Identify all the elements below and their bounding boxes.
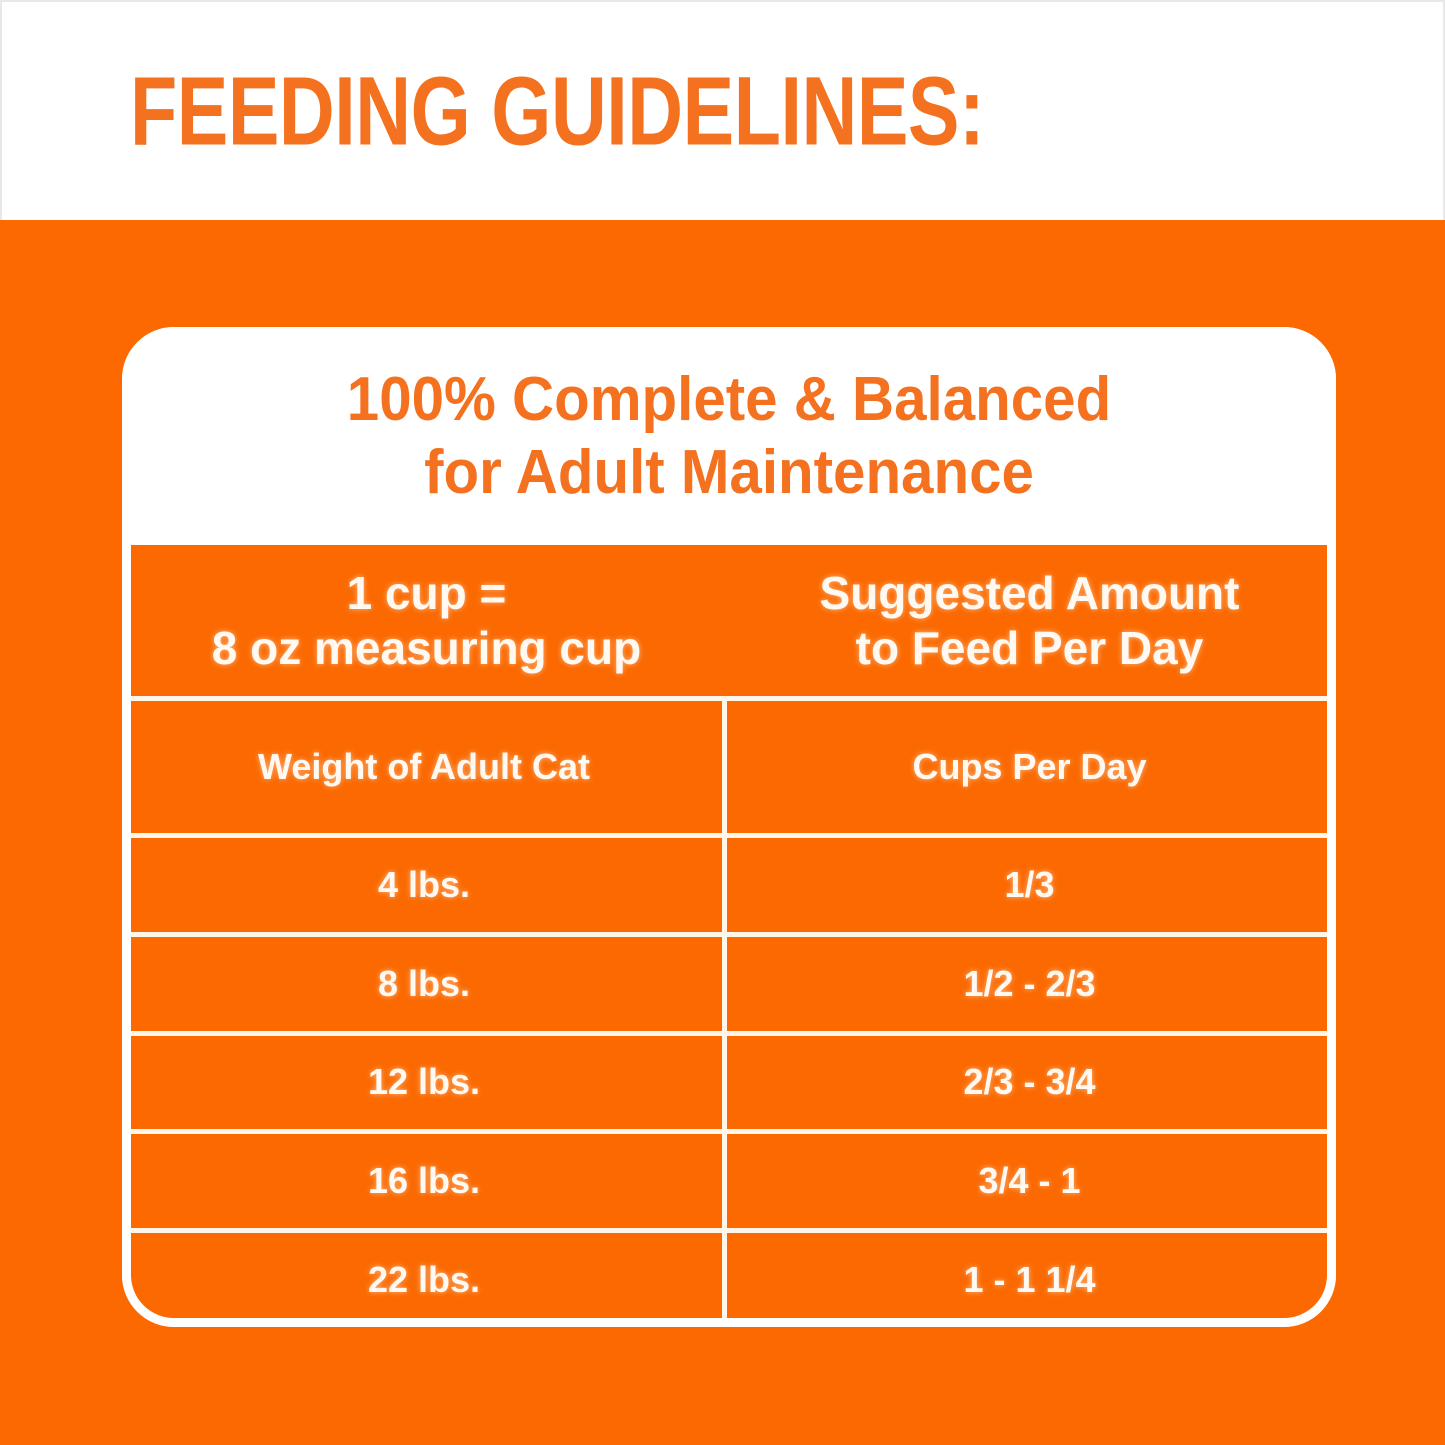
- table-header-cup-definition: 1 cup = 8 oz measuring cup: [126, 545, 727, 696]
- cell-cups: 1/2 - 2/3: [727, 937, 1332, 1031]
- cell-weight: 8 lbs.: [126, 937, 722, 1031]
- cell-weight: 22 lbs.: [126, 1233, 722, 1327]
- column-header-cups: Cups Per Day: [727, 701, 1332, 833]
- page-title: FEEDING GUIDELINES:: [130, 62, 984, 159]
- table-row: 22 lbs. 1 - 1 1/4: [126, 1233, 1332, 1327]
- title-band: FEEDING GUIDELINES:: [0, 0, 1445, 220]
- feeding-guidelines-page: FEEDING GUIDELINES: 100% Complete & Bala…: [0, 0, 1445, 1445]
- table-header-row: 1 cup = 8 oz measuring cup Suggested Amo…: [126, 545, 1332, 696]
- cell-cups: 2/3 - 3/4: [727, 1036, 1332, 1130]
- feeding-table: 1 cup = 8 oz measuring cup Suggested Amo…: [126, 545, 1332, 1327]
- table-header-suggested-amount: Suggested Amount to Feed Per Day: [727, 545, 1332, 696]
- cell-weight: 16 lbs.: [126, 1134, 722, 1228]
- cell-cups: 1/3: [727, 838, 1332, 932]
- table-row: 8 lbs. 1/2 - 2/3: [126, 937, 1332, 1031]
- table-row: 16 lbs. 3/4 - 1: [126, 1134, 1332, 1228]
- column-header-weight: Weight of Adult Cat: [126, 701, 722, 833]
- cell-weight: 12 lbs.: [126, 1036, 722, 1130]
- feeding-card: 100% Complete & Balanced for Adult Maint…: [122, 327, 1336, 1327]
- cell-cups: 3/4 - 1: [727, 1134, 1332, 1228]
- cell-weight: 4 lbs.: [126, 838, 722, 932]
- table-row: 12 lbs. 2/3 - 3/4: [126, 1036, 1332, 1130]
- cell-cups: 1 - 1 1/4: [727, 1233, 1332, 1327]
- table-row: 4 lbs. 1/3: [126, 838, 1332, 932]
- card-heading: 100% Complete & Balanced for Adult Maint…: [158, 363, 1299, 509]
- table-column-header-row: Weight of Adult Cat Cups Per Day: [126, 701, 1332, 833]
